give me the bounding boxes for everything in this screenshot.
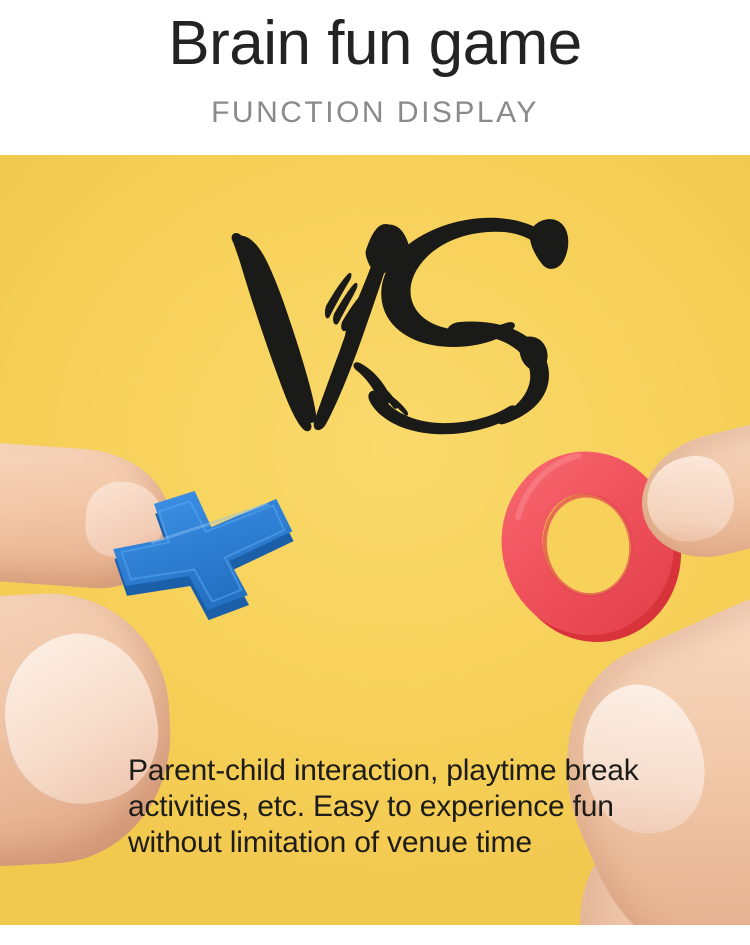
caption-line-2: activities, etc. Easy to experience fun (128, 789, 728, 825)
page-title: Brain fun game (0, 7, 750, 81)
bottom-white-strip (0, 925, 750, 945)
page-subtitle: FUNCTION DISPLAY (0, 96, 750, 130)
product-marketing-image: Brain fun game FUNCTION DISPLAY (0, 0, 750, 945)
header-banner: Brain fun game FUNCTION DISPLAY (0, 0, 750, 155)
caption-text: Parent-child interaction, playtime break… (128, 753, 728, 861)
vs-brush-lettering (196, 210, 576, 450)
product-photo: Parent-child interaction, playtime break… (0, 155, 750, 925)
blue-x-piece (88, 467, 321, 633)
caption-line-1: Parent-child interaction, playtime break (128, 753, 728, 789)
caption-line-3: without limitation of venue time (128, 825, 728, 861)
